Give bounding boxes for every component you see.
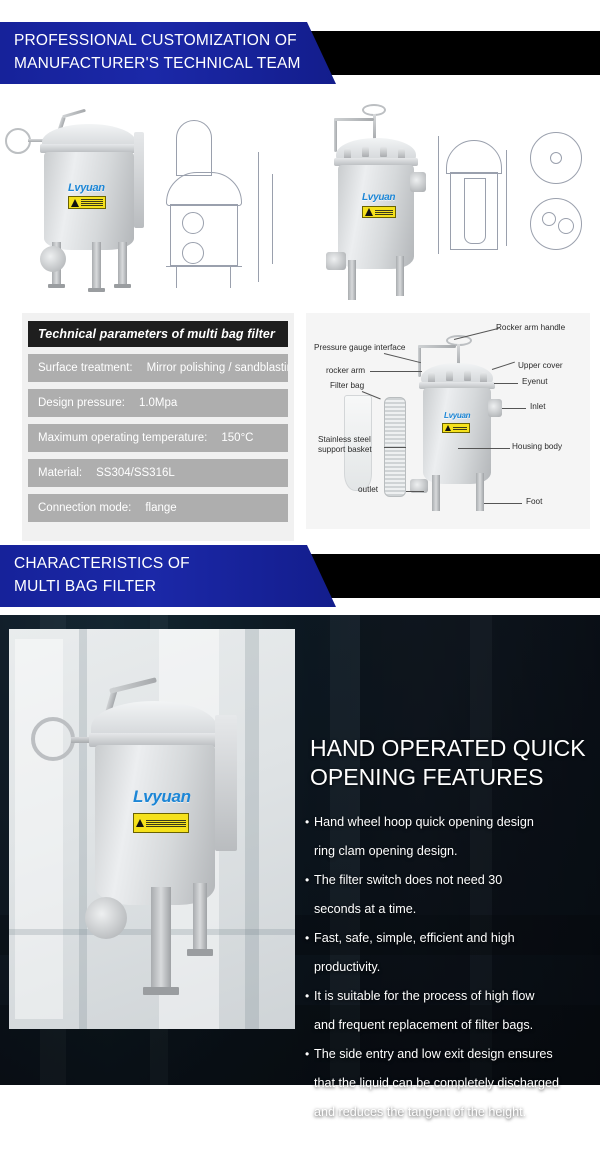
rocker-arm-bar	[418, 345, 456, 348]
label-rocker-arm: rocker arm	[326, 366, 365, 376]
technical-drawing-2	[436, 130, 516, 260]
technical-drawing-1	[152, 112, 292, 292]
list-item: It is suitable for the process of high f…	[305, 982, 597, 1040]
brand-logo: Lvyuan	[444, 411, 470, 420]
table-row: Material:SS304/SS316L	[28, 459, 288, 487]
row-key: Design pressure:	[38, 397, 125, 409]
mid-banner: CHARACTERISTICS OF MULTI BAG FILTER	[0, 545, 600, 607]
list-item: The side entry and low exit design ensur…	[305, 1040, 597, 1127]
warning-text-lines	[453, 427, 467, 430]
product-photo-strip: Lvyuan	[0, 84, 600, 309]
warning-triangle-icon	[365, 208, 373, 216]
pressure-pipe-horz	[334, 118, 374, 121]
list-item: The filter switch does not need 30 secon…	[305, 866, 597, 924]
leader-line	[454, 328, 499, 340]
label-outlet: outlet	[358, 485, 378, 495]
leader-line	[494, 383, 518, 384]
pressure-pipe-vert	[334, 118, 337, 152]
table-row: Maximum operating temperature:150°C	[28, 424, 288, 452]
warning-label	[133, 813, 189, 833]
row-key: Connection mode:	[38, 502, 131, 514]
label-eyenut: Eyenut	[522, 377, 548, 387]
warning-label	[362, 206, 396, 218]
top-banner-blue-tab: PROFESSIONAL CUSTOMIZATION OF MANUFACTUR…	[0, 22, 336, 84]
hand-wheel-icon	[31, 717, 75, 761]
leader-line	[492, 362, 515, 370]
row-key: Material:	[38, 467, 82, 479]
leg-right	[476, 473, 484, 511]
warning-text-lines	[146, 820, 186, 827]
label-support-basket: Stainless steel support basket	[318, 435, 372, 455]
housing-body	[423, 388, 491, 484]
list-item: Hand wheel hoop quick opening design rin…	[305, 808, 597, 866]
leader-line	[384, 353, 421, 363]
leader-line	[458, 448, 510, 449]
warning-triangle-icon	[136, 819, 144, 827]
foot-right	[114, 284, 131, 288]
row-value: SS304/SS316L	[96, 467, 175, 479]
leader-line	[502, 408, 526, 409]
row-key: Surface treatment:	[38, 362, 133, 374]
label-pressure-gauge-interface: Pressure gauge interface	[314, 343, 405, 353]
specifications-section: Technical parameters of multi bag filter…	[0, 309, 600, 541]
leader-line	[384, 447, 406, 448]
label-filter-bag: Filter bag	[330, 381, 364, 391]
foot-right	[187, 949, 213, 956]
table-row: Surface treatment:Mirror polishing / san…	[28, 354, 288, 382]
warning-text-lines	[375, 210, 393, 215]
product-page: PROFESSIONAL CUSTOMIZATION OF MANUFACTUR…	[0, 22, 600, 1149]
technical-drawing-flange-views	[522, 128, 592, 268]
table-title: Technical parameters of multi bag filter	[28, 321, 288, 347]
warning-text-lines	[81, 199, 103, 206]
brand-logo: Lvyuan	[133, 787, 191, 807]
row-value: 150°C	[221, 432, 253, 444]
warning-triangle-icon	[71, 199, 79, 207]
list-item: Fast, safe, simple, efficient and high p…	[305, 924, 597, 982]
row-value: Mirror polishing / sandblasting	[147, 362, 288, 374]
outlet-flange	[40, 246, 66, 272]
leg-mid	[151, 887, 171, 993]
eyenut-2	[362, 146, 369, 157]
brand-logo: Lvyuan	[362, 192, 395, 203]
warning-triangle-icon	[445, 425, 451, 431]
leader-line	[484, 503, 522, 504]
foot-mid	[143, 987, 179, 995]
leg-right	[396, 256, 404, 296]
label-housing-body: Housing body	[512, 442, 562, 452]
table-row: Connection mode:flange	[28, 494, 288, 522]
product-photo-left: Lvyuan	[0, 84, 300, 309]
brand-logo: Lvyuan	[68, 182, 105, 194]
row-value: flange	[145, 502, 176, 514]
leg-mid	[92, 242, 101, 290]
leg-left	[432, 475, 440, 511]
leg-right	[193, 883, 207, 955]
warning-label	[442, 423, 470, 433]
leader-line	[406, 491, 424, 492]
product-photo-right: Lvyuan	[300, 84, 600, 309]
outlet-flange	[326, 252, 346, 270]
leg-left	[348, 260, 356, 300]
foot-left	[48, 284, 65, 288]
rocker-link	[62, 109, 86, 118]
technical-parameters-table: Technical parameters of multi bag filter…	[22, 313, 294, 541]
mid-banner-blue-tab: CHARACTERISTICS OF MULTI BAG FILTER	[0, 545, 336, 607]
inlet-flange	[410, 172, 426, 192]
table-row: Design pressure:1.0Mpa	[28, 389, 288, 417]
warning-label	[68, 196, 106, 209]
eyenut-3	[380, 146, 387, 157]
label-upper-cover: Upper cover	[518, 361, 563, 371]
top-banner: PROFESSIONAL CUSTOMIZATION OF MANUFACTUR…	[0, 22, 600, 84]
row-key: Maximum operating temperature:	[38, 432, 207, 444]
label-inlet: Inlet	[530, 402, 545, 412]
feature-bullet-list: Hand wheel hoop quick opening design rin…	[305, 808, 597, 1127]
outlet-flange	[85, 897, 127, 939]
eyenut-3	[464, 370, 471, 381]
leg-right	[118, 242, 127, 286]
labeled-diagram: Lvyuan Rocker arm handle P	[306, 313, 590, 529]
feature-product-photo: Lvyuan	[9, 629, 295, 1029]
feature-title: HAND OPERATED QUICK OPENING FEATURES	[310, 734, 598, 792]
side-bracket	[134, 132, 144, 228]
inlet-flange	[488, 399, 502, 417]
label-foot: Foot	[526, 497, 542, 507]
label-rocker-arm-handle: Rocker arm handle	[496, 323, 565, 333]
side-bracket	[215, 715, 237, 851]
top-banner-title: PROFESSIONAL CUSTOMIZATION OF MANUFACTUR…	[14, 29, 318, 75]
eyenut-2	[446, 370, 453, 381]
leader-line	[370, 371, 422, 372]
mid-banner-title: CHARACTERISTICS OF MULTI BAG FILTER	[14, 552, 318, 598]
rocker-link	[109, 677, 157, 693]
row-value: 1.0Mpa	[139, 397, 177, 409]
foot-mid	[88, 288, 105, 292]
